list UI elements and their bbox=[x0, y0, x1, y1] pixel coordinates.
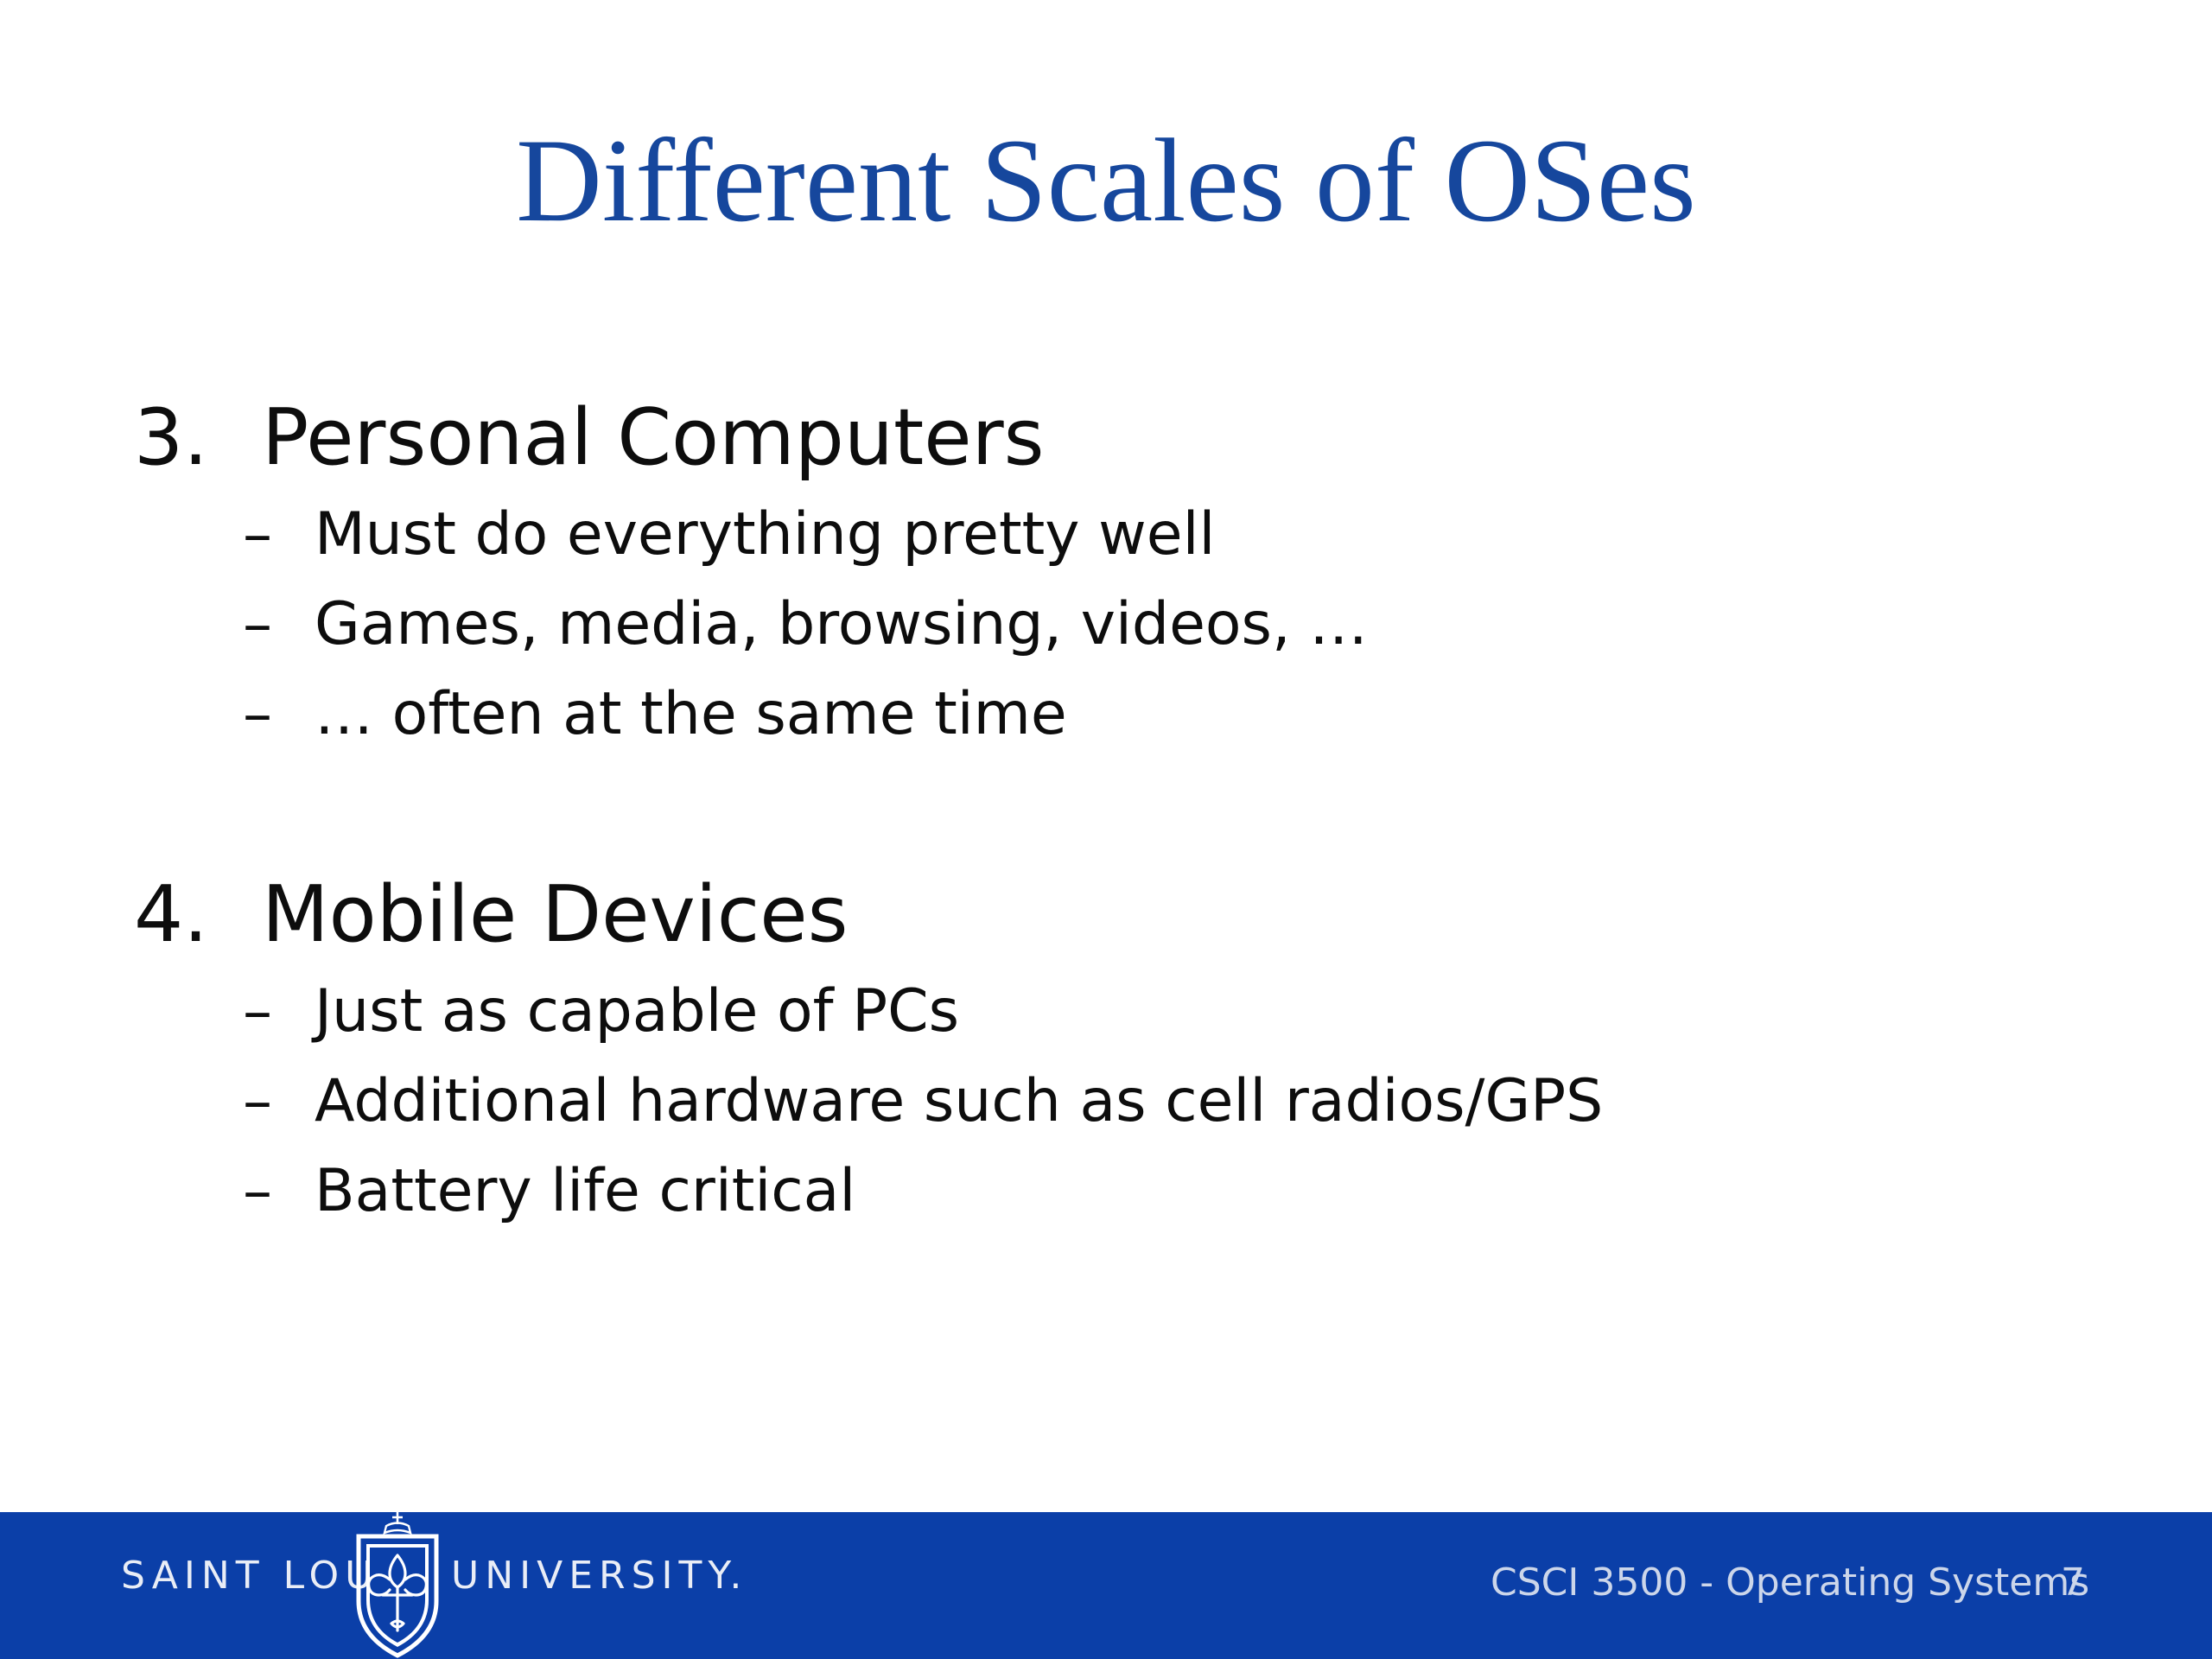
sub-bullet: – Must do everything pretty well bbox=[0, 490, 2212, 580]
item-number: 3. bbox=[134, 393, 208, 483]
bullet-group-1: 3. Personal Computers – Must do everythi… bbox=[0, 393, 2212, 760]
sub-bullet-text: Games, media, browsing, videos, … bbox=[315, 580, 1368, 670]
dash-marker-icon: – bbox=[243, 670, 272, 760]
numbered-item-3: 3. Personal Computers bbox=[0, 393, 2212, 483]
numbered-item-4: 4. Mobile Devices bbox=[0, 870, 2212, 960]
sub-bullet-text: … often at the same time bbox=[315, 670, 1067, 760]
sub-bullet-text: Battery life critical bbox=[315, 1147, 855, 1236]
dash-marker-icon: – bbox=[243, 1147, 272, 1236]
saint-louis-university-logo: SAINT LOUIS UNIVERSITY. bbox=[121, 1512, 709, 1659]
sub-bullet: – Battery life critical bbox=[0, 1147, 2212, 1236]
slide-body: 3. Personal Computers – Must do everythi… bbox=[0, 393, 2212, 1236]
slu-shield-fleur-de-lis-icon bbox=[350, 1510, 445, 1659]
item-heading: Personal Computers bbox=[262, 393, 1045, 483]
sub-bullet-text: Just as capable of PCs bbox=[315, 967, 959, 1057]
sub-bullet: – Just as capable of PCs bbox=[0, 967, 2212, 1057]
sub-bullet-text: Additional hardware such as cell radios/… bbox=[315, 1057, 1603, 1147]
footer-page-number: 7 bbox=[2061, 1560, 2085, 1605]
sub-bullet: – Additional hardware such as cell radio… bbox=[0, 1057, 2212, 1147]
item-number: 4. bbox=[134, 870, 208, 960]
item-heading: Mobile Devices bbox=[262, 870, 849, 960]
presentation-slide: Different Scales of OSes 3. Personal Com… bbox=[0, 0, 2212, 1659]
slide-title: Different Scales of OSes bbox=[0, 121, 2212, 240]
dash-marker-icon: – bbox=[243, 490, 272, 580]
sub-bullet: – … often at the same time bbox=[0, 670, 2212, 760]
sub-bullet: – Games, media, browsing, videos, … bbox=[0, 580, 2212, 670]
dash-marker-icon: – bbox=[243, 580, 272, 670]
sub-bullet-text: Must do everything pretty well bbox=[315, 490, 1215, 580]
dash-marker-icon: – bbox=[243, 1057, 272, 1147]
footer-course-label: CSCI 3500 - Operating Systems bbox=[1491, 1560, 2089, 1605]
logo-text-university: UNIVERSITY. bbox=[451, 1554, 747, 1598]
dash-marker-icon: – bbox=[243, 967, 272, 1057]
bullet-group-2: 4. Mobile Devices – Just as capable of P… bbox=[0, 870, 2212, 1236]
